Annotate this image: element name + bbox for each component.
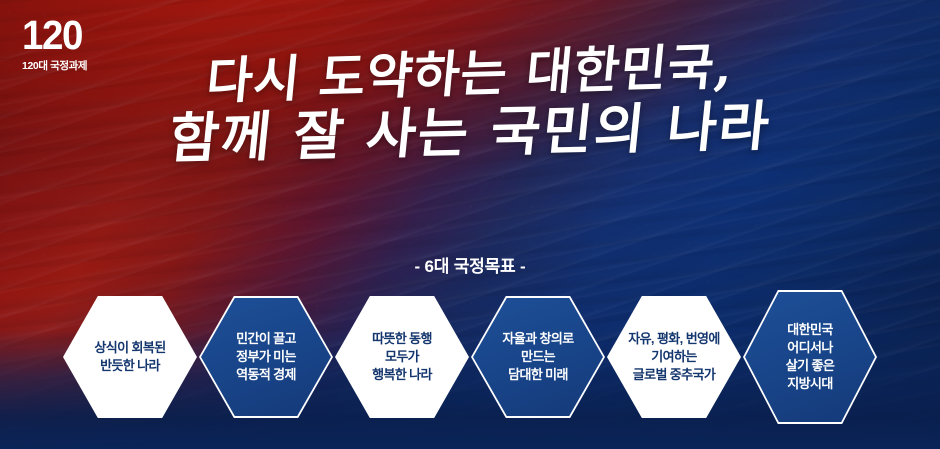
goal-hexagon-6-label: 대한민국 어디서나 살기 좋은 지방시대 — [782, 321, 838, 393]
logo-number: 120 — [22, 17, 83, 55]
goal-hexagon-1-label: 상식이 회복된 반듯한 나라 — [90, 339, 169, 375]
goal-hexagon-5[interactable]: 자유, 평화, 번영에 기여하는 글로벌 중추국가 — [607, 296, 741, 418]
policy-banner: 120 120대 국정과제 다시 도약하는 대한민국, 함께 잘 사는 국민의 … — [0, 0, 940, 449]
goal-hexagon-row: 상식이 회복된 반듯한 나라 민간이 끌고 정부가 미는 역동적 경제 따뜻한 … — [0, 296, 940, 424]
headline: 다시 도약하는 대한민국, 함께 잘 사는 국민의 나라 — [0, 48, 940, 161]
goal-hexagon-2-label: 민간이 끌고 정부가 미는 역동적 경제 — [232, 330, 300, 384]
goal-hexagon-4-label: 자율과 창의로 만드는 담대한 미래 — [498, 330, 577, 384]
goal-hexagon-2[interactable]: 민간이 끌고 정부가 미는 역동적 경제 — [199, 296, 333, 418]
section-subtitle: - 6대 국정목표 - — [0, 252, 940, 277]
goal-hexagon-4[interactable]: 자율과 창의로 만드는 담대한 미래 — [471, 296, 605, 418]
goal-hexagon-5-label: 자유, 평화, 번영에 기여하는 글로벌 중추국가 — [624, 330, 724, 384]
logo-subtitle: 120대 국정과제 — [22, 58, 87, 73]
brand-logo: 120 120대 국정과제 — [22, 17, 87, 73]
goal-hexagon-3[interactable]: 따뜻한 동행 모두가 행복한 나라 — [335, 296, 469, 418]
goal-hexagon-6[interactable]: 대한민국 어디서나 살기 좋은 지방시대 — [743, 290, 877, 424]
goal-hexagon-1[interactable]: 상식이 회복된 반듯한 나라 — [63, 296, 197, 418]
goal-hexagon-3-label: 따뜻한 동행 모두가 행복한 나라 — [368, 330, 436, 384]
